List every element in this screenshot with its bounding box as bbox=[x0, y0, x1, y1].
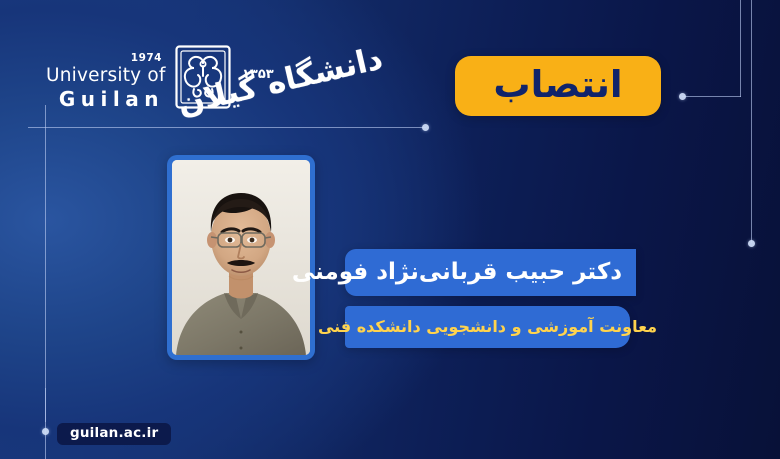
university-brand-lockup: 1974 University of Guilan دانشگاه گیلان bbox=[46, 33, 376, 121]
website-url-label: guilan.ac.ir bbox=[70, 427, 158, 441]
appointment-announcement-poster: 1974 University of Guilan دانشگاه گیلان bbox=[0, 0, 780, 459]
brand-founding-year-latin: 1974 bbox=[46, 53, 164, 64]
portrait-frame bbox=[167, 155, 315, 360]
decorative-line-right-vertical-outer bbox=[751, 0, 752, 243]
decorative-line-bottom-left-vertical bbox=[45, 388, 46, 422]
decorative-line-top-horizontal bbox=[28, 127, 426, 128]
decorative-dot-bottom-left bbox=[42, 428, 49, 435]
brand-persian-text: دانشگاه گیلان ۱۳۵۳ bbox=[242, 33, 382, 121]
appointment-badge-label: انتصاب bbox=[493, 66, 622, 103]
brand-guilan-line: Guilan bbox=[46, 89, 164, 109]
person-name-bar: دکتر حبیب قربانی‌نژاد فومنی bbox=[345, 249, 636, 296]
portrait-photo bbox=[172, 160, 310, 355]
website-url-pill[interactable]: guilan.ac.ir bbox=[57, 423, 171, 445]
decorative-line-right-horizontal bbox=[682, 96, 741, 97]
person-role-label: معاونت آموزشی و دانشجویی دانشکده فنی bbox=[318, 319, 657, 335]
brand-university-line: University of bbox=[46, 67, 164, 86]
decorative-dot-right-upper bbox=[679, 93, 686, 100]
brand-english-text: 1974 University of Guilan bbox=[46, 45, 164, 109]
person-name-label: دکتر حبیب قربانی‌نژاد فومنی bbox=[292, 261, 622, 284]
brand-founding-year-persian: ۱۳۵۳ bbox=[242, 67, 274, 82]
person-role-bar: معاونت آموزشی و دانشجویی دانشکده فنی bbox=[345, 306, 630, 348]
decorative-dot-top-right bbox=[422, 124, 429, 131]
decorative-line-right-vertical-inner bbox=[740, 0, 741, 97]
appointment-badge: انتصاب bbox=[455, 56, 661, 116]
decorative-dot-right-lower bbox=[748, 240, 755, 247]
